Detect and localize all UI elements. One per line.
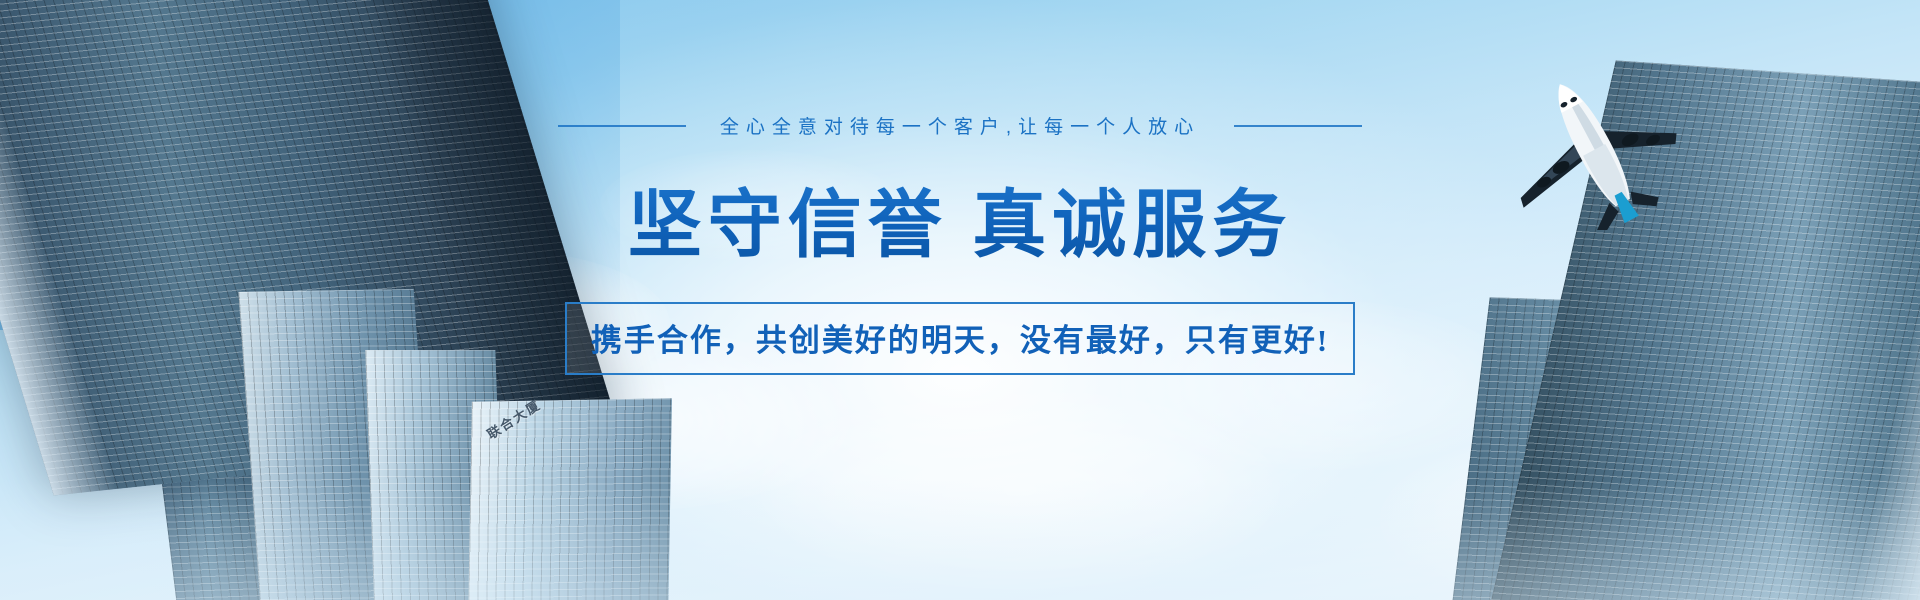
airplane-icon — [1475, 55, 1705, 230]
tagline-rule-left — [558, 125, 686, 127]
subtitle-box: 携手合作，共创美好的明天，没有最好，只有更好! — [565, 302, 1355, 375]
subtitle-text: 携手合作，共创美好的明天，没有最好，只有更好! — [591, 315, 1329, 360]
tagline-text: 全心全意对待每一个客户,让每一个人放心 — [720, 112, 1200, 139]
tagline-rule-right — [1234, 125, 1362, 127]
hero-banner: 联合大厦 — [0, 0, 1920, 600]
building-center: 联合大厦 — [468, 398, 672, 600]
tagline-row: 全心全意对待每一个客户,让每一个人放心 — [558, 112, 1362, 139]
headline-text: 坚守信誉 真诚服务 — [628, 165, 1293, 272]
